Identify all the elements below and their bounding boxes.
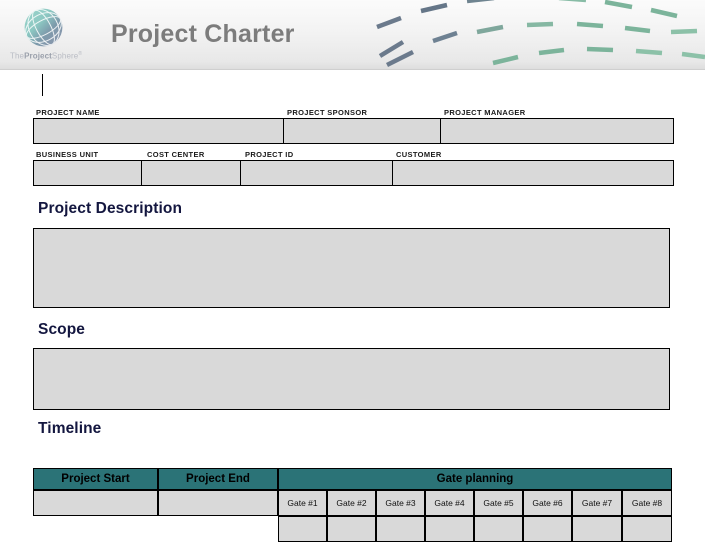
- input-customer[interactable]: [392, 160, 674, 186]
- input-gate-2[interactable]: [327, 516, 376, 542]
- brand-project: Project: [24, 52, 52, 61]
- decorative-dash-arcs: [355, 0, 705, 70]
- label-project-name: PROJECT NAME: [36, 108, 100, 117]
- timeline-empty-spacer: [33, 516, 278, 542]
- th-gate-4: Gate #4: [425, 490, 474, 516]
- input-project-start[interactable]: [33, 490, 158, 516]
- brand-wordmark: TheProjectSphere®: [10, 51, 86, 61]
- input-project-manager[interactable]: [440, 118, 674, 144]
- input-cost-center[interactable]: [141, 160, 241, 186]
- sphere-globe-icon: [21, 5, 66, 50]
- page-title: Project Charter: [111, 20, 295, 49]
- input-gate-1[interactable]: [278, 516, 327, 542]
- brand-logo: TheProjectSphere®: [10, 4, 86, 66]
- heading-project-description: Project Description: [38, 200, 182, 218]
- heading-timeline: Timeline: [38, 420, 101, 438]
- th-gate-2: Gate #2: [327, 490, 376, 516]
- header-banner: TheProjectSphere® Project Charter: [0, 0, 705, 70]
- th-gate-7: Gate #7: [572, 490, 622, 516]
- label-project-sponsor: PROJECT SPONSOR: [287, 108, 367, 117]
- input-gate-8[interactable]: [622, 516, 672, 542]
- input-project-end[interactable]: [158, 490, 278, 516]
- th-gate-5: Gate #5: [474, 490, 523, 516]
- timeline-table: Project Start Project End Gate planning …: [33, 468, 672, 542]
- input-gate-3[interactable]: [376, 516, 425, 542]
- textarea-scope[interactable]: [33, 348, 670, 410]
- input-project-id[interactable]: [240, 160, 393, 186]
- th-gate-6: Gate #6: [523, 490, 572, 516]
- input-gate-7[interactable]: [572, 516, 622, 542]
- th-gate-1: Gate #1: [278, 490, 327, 516]
- label-project-manager: PROJECT MANAGER: [444, 108, 526, 117]
- label-customer: CUSTOMER: [396, 150, 442, 159]
- th-gate-8: Gate #8: [622, 490, 672, 516]
- label-cost-center: COST CENTER: [147, 150, 205, 159]
- input-gate-4[interactable]: [425, 516, 474, 542]
- brand-sphere: Sphere: [52, 52, 78, 61]
- brand-the: The: [10, 52, 24, 61]
- th-project-start: Project Start: [33, 468, 158, 490]
- input-project-name[interactable]: [33, 118, 284, 144]
- textarea-project-description[interactable]: [33, 228, 670, 308]
- label-project-id: PROJECT ID: [245, 150, 294, 159]
- input-project-sponsor[interactable]: [283, 118, 441, 144]
- th-gate-3: Gate #3: [376, 490, 425, 516]
- input-gate-6[interactable]: [523, 516, 572, 542]
- input-gate-5[interactable]: [474, 516, 523, 542]
- label-business-unit: BUSINESS UNIT: [36, 150, 98, 159]
- input-business-unit[interactable]: [33, 160, 142, 186]
- th-gate-planning: Gate planning: [278, 468, 672, 490]
- text-cursor-caret: [42, 74, 43, 96]
- heading-scope: Scope: [38, 321, 85, 339]
- registered-mark-icon: ®: [78, 51, 82, 57]
- th-project-end: Project End: [158, 468, 278, 490]
